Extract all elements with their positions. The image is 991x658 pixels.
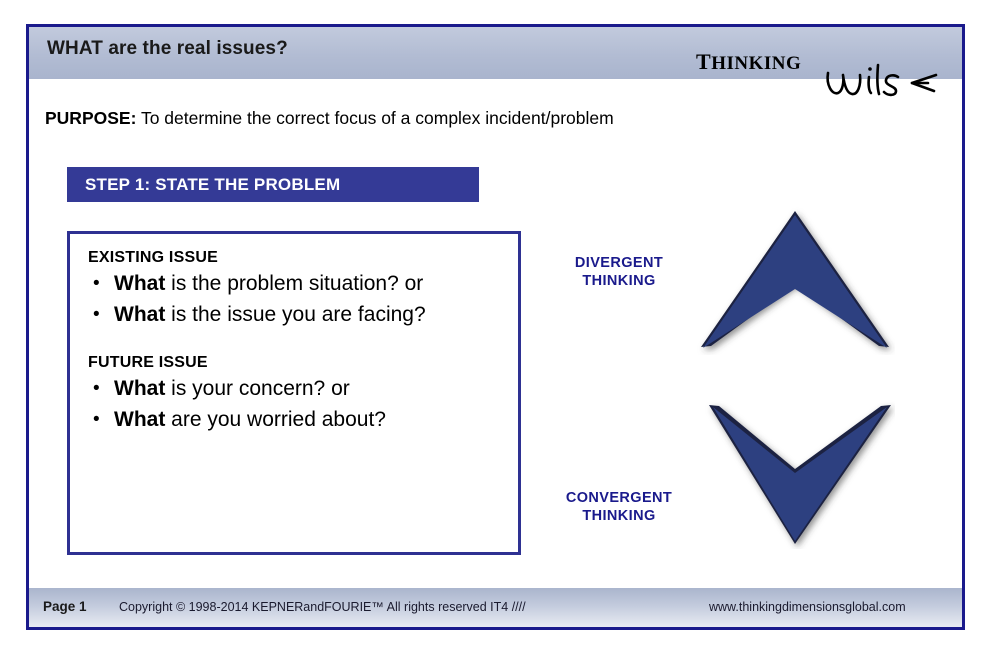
divergent-thinking-label: DIVERGENT THINKING bbox=[534, 254, 704, 290]
bullet-rest: is the problem situation? or bbox=[165, 272, 423, 295]
list-item: • What is the problem situation? or bbox=[88, 269, 504, 299]
bullet-text: What is your concern? or bbox=[114, 374, 350, 404]
purpose-text: To determine the correct focus of a comp… bbox=[136, 108, 613, 128]
list-item: • What is your concern? or bbox=[88, 374, 504, 404]
divergent-chevron-up-icon bbox=[695, 205, 895, 355]
bullet-icon: • bbox=[88, 300, 114, 330]
divergent-label-line2: THINKING bbox=[534, 272, 704, 290]
bullet-keyword: What bbox=[114, 377, 165, 400]
group-title: FUTURE ISSUE bbox=[88, 354, 504, 372]
slide-frame: WHAT are the real issues? Thinking PURPO… bbox=[26, 24, 965, 630]
slide-footer: Page 1 Copyright © 1998-2014 KEPNERandFO… bbox=[29, 587, 962, 627]
list-item: • What are you worried about? bbox=[88, 405, 504, 435]
bullet-text: What are you worried about? bbox=[114, 405, 386, 435]
convergent-label-line1: CONVERGENT bbox=[534, 489, 704, 507]
logo-wordmark: Thinking bbox=[696, 41, 801, 77]
bullet-icon: • bbox=[88, 405, 114, 435]
bullet-icon: • bbox=[88, 269, 114, 299]
copyright-text: Copyright © 1998-2014 KEPNERandFOURIE™ A… bbox=[119, 600, 526, 614]
purpose-label: PURPOSE: bbox=[45, 108, 136, 128]
convergent-thinking-label: CONVERGENT THINKING bbox=[534, 489, 704, 525]
question-box: EXISTING ISSUE • What is the problem sit… bbox=[67, 231, 521, 555]
page-number: Page 1 bbox=[43, 599, 87, 614]
group-future-issue: FUTURE ISSUE • What is your concern? or … bbox=[88, 354, 504, 435]
bullet-rest: is the issue you are facing? bbox=[165, 303, 425, 326]
bullet-text: What is the problem situation? or bbox=[114, 269, 423, 299]
purpose-line: PURPOSE: To determine the correct focus … bbox=[45, 108, 614, 129]
convergent-label-line2: THINKING bbox=[534, 507, 704, 525]
bullet-keyword: What bbox=[114, 303, 165, 326]
website-url: www.thinkingdimensionsglobal.com bbox=[709, 600, 906, 614]
step-banner-label: STEP 1: STATE THE PROBLEM bbox=[67, 175, 340, 195]
bullet-rest: is your concern? or bbox=[165, 377, 349, 400]
page-title: WHAT are the real issues? bbox=[47, 38, 288, 60]
convergent-chevron-down-icon bbox=[695, 399, 895, 549]
bullet-icon: • bbox=[88, 374, 114, 404]
bullet-text: What is the issue you are facing? bbox=[114, 300, 426, 330]
bullet-keyword: What bbox=[114, 272, 165, 295]
group-existing-issue: EXISTING ISSUE • What is the problem sit… bbox=[88, 249, 504, 330]
bullet-rest: are you worried about? bbox=[165, 408, 386, 431]
bullet-keyword: What bbox=[114, 408, 165, 431]
divergent-label-line1: DIVERGENT bbox=[534, 254, 704, 272]
group-spacer bbox=[88, 334, 504, 354]
thinkingwise-logo: Thinking bbox=[684, 31, 934, 107]
logo-script-wise bbox=[824, 59, 944, 107]
list-item: • What is the issue you are facing? bbox=[88, 300, 504, 330]
step-banner: STEP 1: STATE THE PROBLEM bbox=[67, 167, 479, 202]
group-title: EXISTING ISSUE bbox=[88, 249, 504, 267]
